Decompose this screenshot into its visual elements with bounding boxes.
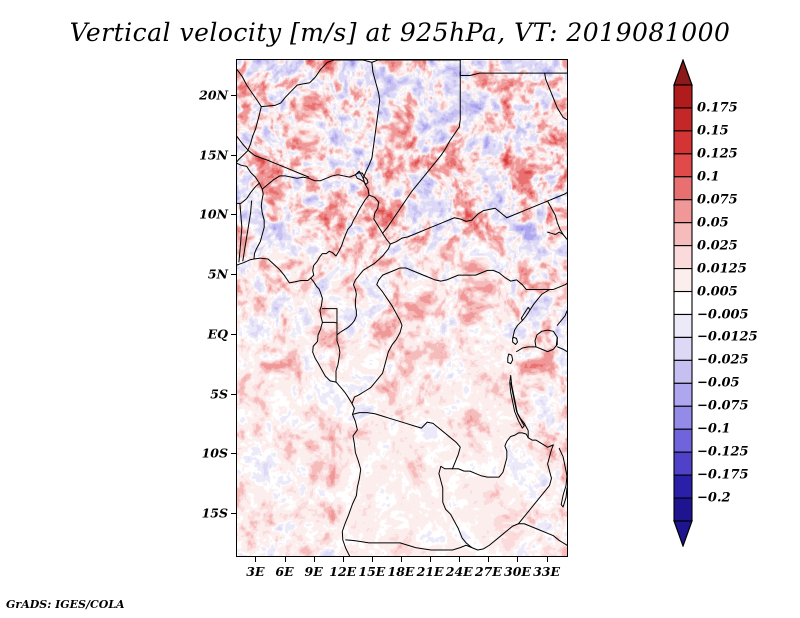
lon-label: 9E — [305, 564, 323, 579]
colorbar-tick-label: 0.075 — [697, 192, 738, 207]
lon-tick — [372, 557, 373, 562]
colorbar-tick-label: −0.0125 — [697, 330, 758, 345]
lon-tick — [459, 557, 460, 562]
lat-label: 20N — [188, 87, 228, 102]
lon-label: 33E — [533, 564, 560, 579]
lon-tick — [430, 557, 431, 562]
colorbar-tick-label: 0.0125 — [697, 261, 747, 276]
lon-label: 6E — [275, 564, 293, 579]
lat-label: EQ — [188, 326, 228, 341]
colorbar-tick-label: −0.025 — [697, 353, 749, 368]
lat-tick — [231, 453, 236, 454]
colorbar-tick-label: −0.1 — [697, 422, 731, 437]
colorbar-tick-label: 0.125 — [697, 146, 738, 161]
colorbar-tick-label: −0.075 — [697, 399, 749, 414]
lat-tick — [231, 394, 236, 395]
map-plot-area — [236, 59, 568, 557]
lat-tick — [231, 214, 236, 215]
lat-label: 5N — [188, 267, 228, 282]
chart-root: Vertical velocity [m/s] at 925hPa, VT: 2… — [0, 0, 800, 618]
lat-label: 10S — [188, 446, 228, 461]
colorbar-tick-label: −0.05 — [697, 376, 740, 391]
lat-tick — [231, 513, 236, 514]
lat-tick — [231, 334, 236, 335]
colorbar-tick-label: 0.05 — [697, 215, 729, 230]
lat-label: 15N — [188, 147, 228, 162]
colorbar-tick-label: 0.175 — [697, 100, 738, 115]
lon-label: 24E — [446, 564, 473, 579]
lon-tick — [343, 557, 344, 562]
lon-label: 3E — [246, 564, 264, 579]
lat-tick — [231, 155, 236, 156]
lon-tick — [285, 557, 286, 562]
colorbar-tick-label: 0.1 — [697, 169, 720, 184]
colorbar-tick-label: 0.025 — [697, 238, 738, 253]
colorbar-swatches — [672, 59, 694, 547]
lat-label: 5S — [188, 386, 228, 401]
colorbar-tick-label: −0.175 — [697, 468, 749, 483]
lat-label: 15S — [188, 506, 228, 521]
colorbar — [672, 59, 694, 547]
colorbar-tick-label: −0.2 — [697, 491, 731, 506]
lon-tick — [314, 557, 315, 562]
lat-tick — [231, 274, 236, 275]
lon-label: 30E — [504, 564, 531, 579]
colorbar-labels: 0.1750.150.1250.10.0750.050.0250.01250.0… — [697, 59, 797, 547]
footer-credit: GrADS: IGES/COLA — [6, 598, 125, 611]
colorbar-tick-label: −0.005 — [697, 307, 749, 322]
lat-tick — [231, 95, 236, 96]
lon-tick — [547, 557, 548, 562]
lat-label: 10N — [188, 207, 228, 222]
colorbar-tick-label: 0.005 — [697, 284, 738, 299]
lon-tick — [488, 557, 489, 562]
lon-label: 21E — [417, 564, 444, 579]
lon-tick — [255, 557, 256, 562]
colorbar-tick-label: −0.125 — [697, 445, 749, 460]
page-title: Vertical velocity [m/s] at 925hPa, VT: 2… — [0, 18, 800, 47]
lon-tick — [517, 557, 518, 562]
lon-label: 12E — [329, 564, 356, 579]
lon-label: 27E — [475, 564, 502, 579]
lon-tick — [401, 557, 402, 562]
country-borders — [237, 60, 567, 556]
colorbar-tick-label: 0.15 — [697, 123, 729, 138]
lon-label: 18E — [388, 564, 415, 579]
lon-label: 15E — [358, 564, 385, 579]
